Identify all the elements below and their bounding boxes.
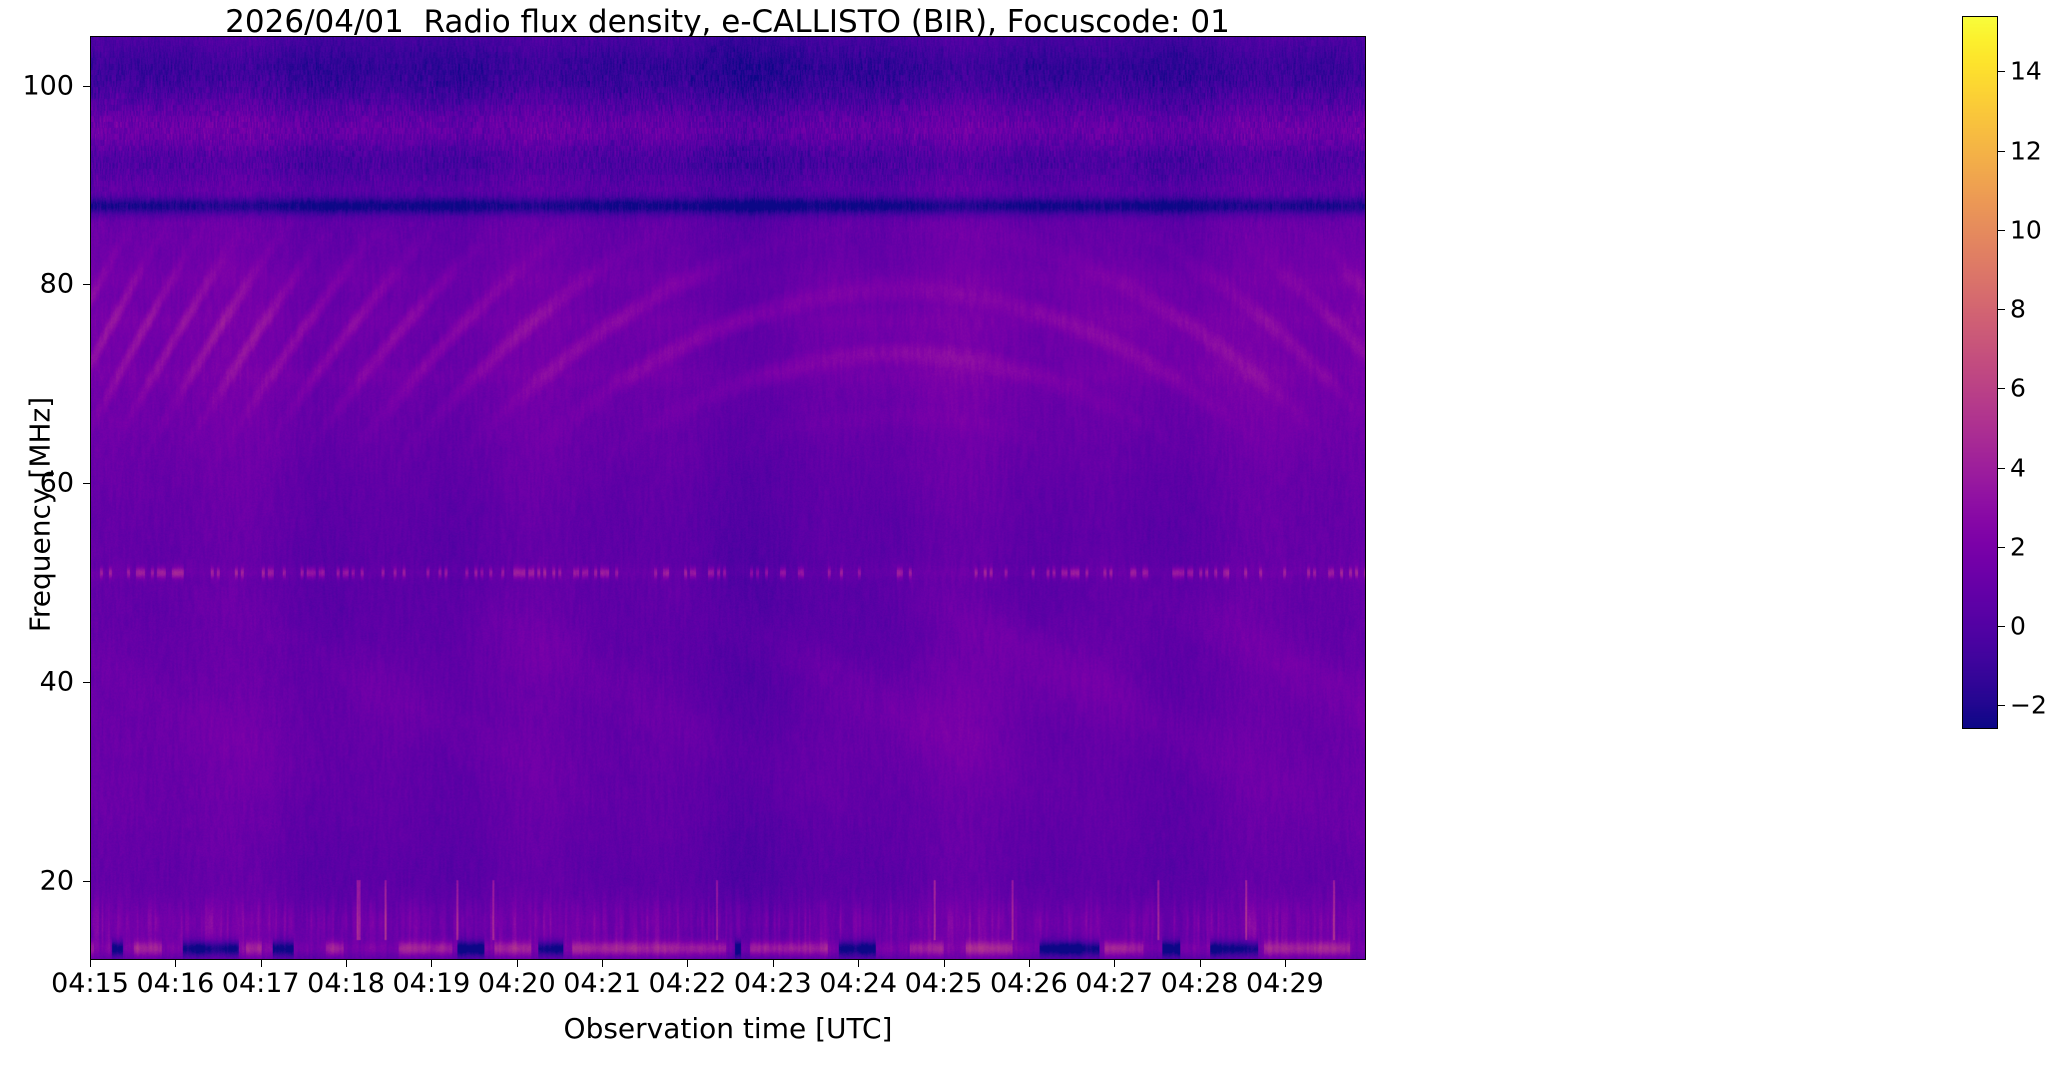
y-tick-label: 100 bbox=[0, 70, 74, 101]
x-tick-mark bbox=[858, 960, 859, 967]
colorbar-tick-label: 2 bbox=[2010, 532, 2026, 561]
colorbar-tick-label: 0 bbox=[2010, 612, 2026, 641]
colorbar-tick-label: 8 bbox=[2010, 295, 2026, 324]
x-tick-mark bbox=[1029, 960, 1030, 967]
x-tick-mark bbox=[175, 960, 176, 967]
colorbar-tick-label: −2 bbox=[2010, 691, 2047, 720]
colorbar-tick-mark bbox=[1998, 388, 2005, 389]
colorbar-tick-mark bbox=[1998, 626, 2005, 627]
colorbar-tick-mark bbox=[1998, 468, 2005, 469]
colorbar-tick-label: 12 bbox=[2010, 136, 2042, 165]
figure-canvas: 2026/04/01 Radio flux density, e-CALLIST… bbox=[0, 0, 2066, 1067]
colorbar-tick-label: 14 bbox=[2010, 57, 2042, 86]
y-tick-mark bbox=[83, 881, 90, 882]
chart-title: 2026/04/01 Radio flux density, e-CALLIST… bbox=[0, 4, 1455, 40]
x-tick-label: 04:16 bbox=[136, 968, 214, 999]
x-axis-label: Observation time [UTC] bbox=[90, 1012, 1366, 1045]
y-tick-mark bbox=[83, 86, 90, 87]
x-tick-mark bbox=[944, 960, 945, 967]
x-tick-label: 04:29 bbox=[1246, 968, 1324, 999]
x-tick-label: 04:26 bbox=[990, 968, 1068, 999]
y-axis-label: Frequency [MHz] bbox=[24, 265, 57, 765]
spectrogram-image bbox=[91, 37, 1365, 959]
spectrogram-axes[interactable] bbox=[90, 36, 1366, 960]
x-tick-label: 04:15 bbox=[51, 968, 129, 999]
x-tick-label: 04:19 bbox=[392, 968, 470, 999]
x-tick-label: 04:28 bbox=[1161, 968, 1239, 999]
colorbar-tick-label: 4 bbox=[2010, 453, 2026, 482]
x-tick-mark bbox=[1200, 960, 1201, 967]
x-tick-mark bbox=[517, 960, 518, 967]
x-tick-label: 04:24 bbox=[819, 968, 897, 999]
x-tick-mark bbox=[773, 960, 774, 967]
x-tick-label: 04:22 bbox=[649, 968, 727, 999]
x-tick-label: 04:27 bbox=[1075, 968, 1153, 999]
colorbar-tick-mark bbox=[1998, 547, 2005, 548]
x-tick-mark bbox=[602, 960, 603, 967]
x-tick-mark bbox=[687, 960, 688, 967]
x-tick-mark bbox=[261, 960, 262, 967]
x-tick-label: 04:23 bbox=[734, 968, 812, 999]
colorbar-tick-mark bbox=[1998, 309, 2005, 310]
y-tick-mark bbox=[83, 483, 90, 484]
colorbar-tick-mark bbox=[1998, 705, 2005, 706]
x-tick-label: 04:25 bbox=[905, 968, 983, 999]
colorbar-tick-label: 6 bbox=[2010, 374, 2026, 403]
colorbar-tick-mark bbox=[1998, 71, 2005, 72]
colorbar-tick-mark bbox=[1998, 230, 2005, 231]
x-tick-mark bbox=[90, 960, 91, 967]
x-tick-label: 04:17 bbox=[222, 968, 300, 999]
colorbar-tick-label: 10 bbox=[2010, 215, 2042, 244]
x-tick-mark bbox=[346, 960, 347, 967]
y-tick-mark bbox=[83, 284, 90, 285]
x-tick-label: 04:20 bbox=[478, 968, 556, 999]
x-tick-mark bbox=[1114, 960, 1115, 967]
x-tick-mark bbox=[1285, 960, 1286, 967]
colorbar[interactable] bbox=[1962, 16, 1998, 729]
colorbar-gradient-image bbox=[1963, 17, 1997, 728]
y-tick-mark bbox=[83, 682, 90, 683]
x-tick-mark bbox=[431, 960, 432, 967]
colorbar-tick-mark bbox=[1998, 151, 2005, 152]
x-tick-label: 04:21 bbox=[563, 968, 641, 999]
x-tick-label: 04:18 bbox=[307, 968, 385, 999]
y-tick-label: 20 bbox=[0, 865, 74, 896]
